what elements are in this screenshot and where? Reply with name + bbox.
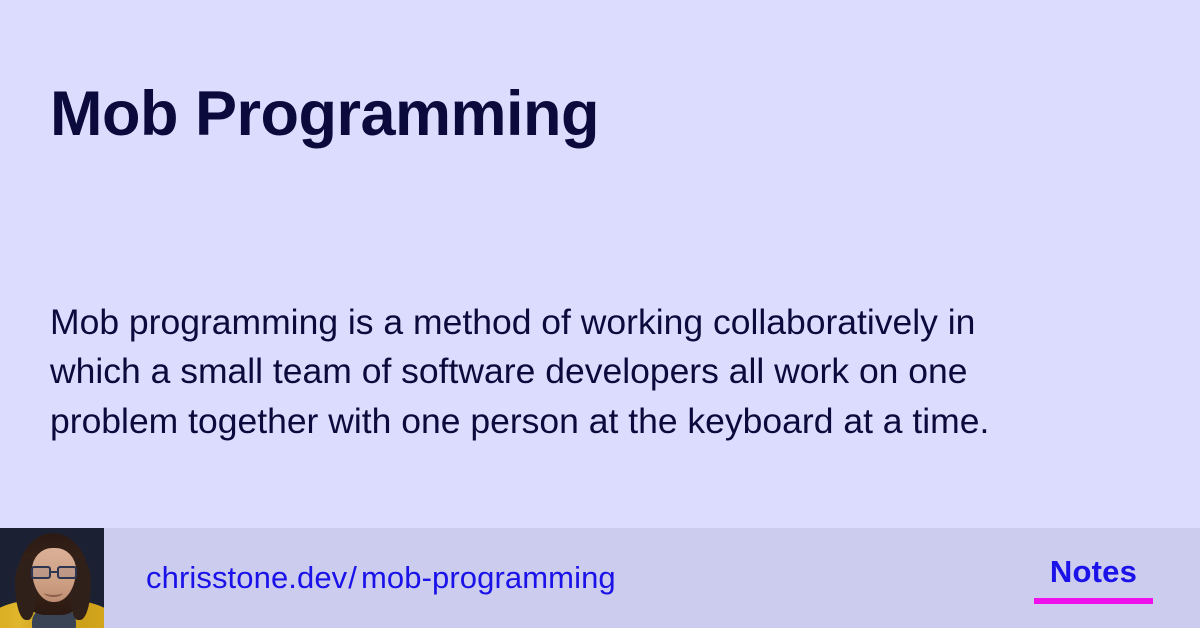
site-url[interactable]: chrisstone.dev/mob-programming [146,560,616,596]
summary-text: Mob programming is a method of working c… [50,298,1060,447]
footer-bar: chrisstone.dev/mob-programming Notes [0,528,1200,628]
glasses-lens-left [31,566,51,579]
notes-underline [1034,598,1153,604]
site-path: mob-programming [361,560,616,595]
notes-link[interactable]: Notes [1034,556,1153,604]
social-card: Mob Programming Mob programming is a met… [0,0,1200,628]
glasses-icon [29,566,79,579]
page-title: Mob Programming [50,80,1150,149]
site-domain: chrisstone.dev [146,560,347,595]
glasses-lens-right [57,566,77,579]
notes-label: Notes [1050,556,1137,587]
url-separator: / [348,560,357,595]
avatar-smile [44,588,63,597]
glasses-bridge [51,571,57,573]
avatar [0,528,104,628]
